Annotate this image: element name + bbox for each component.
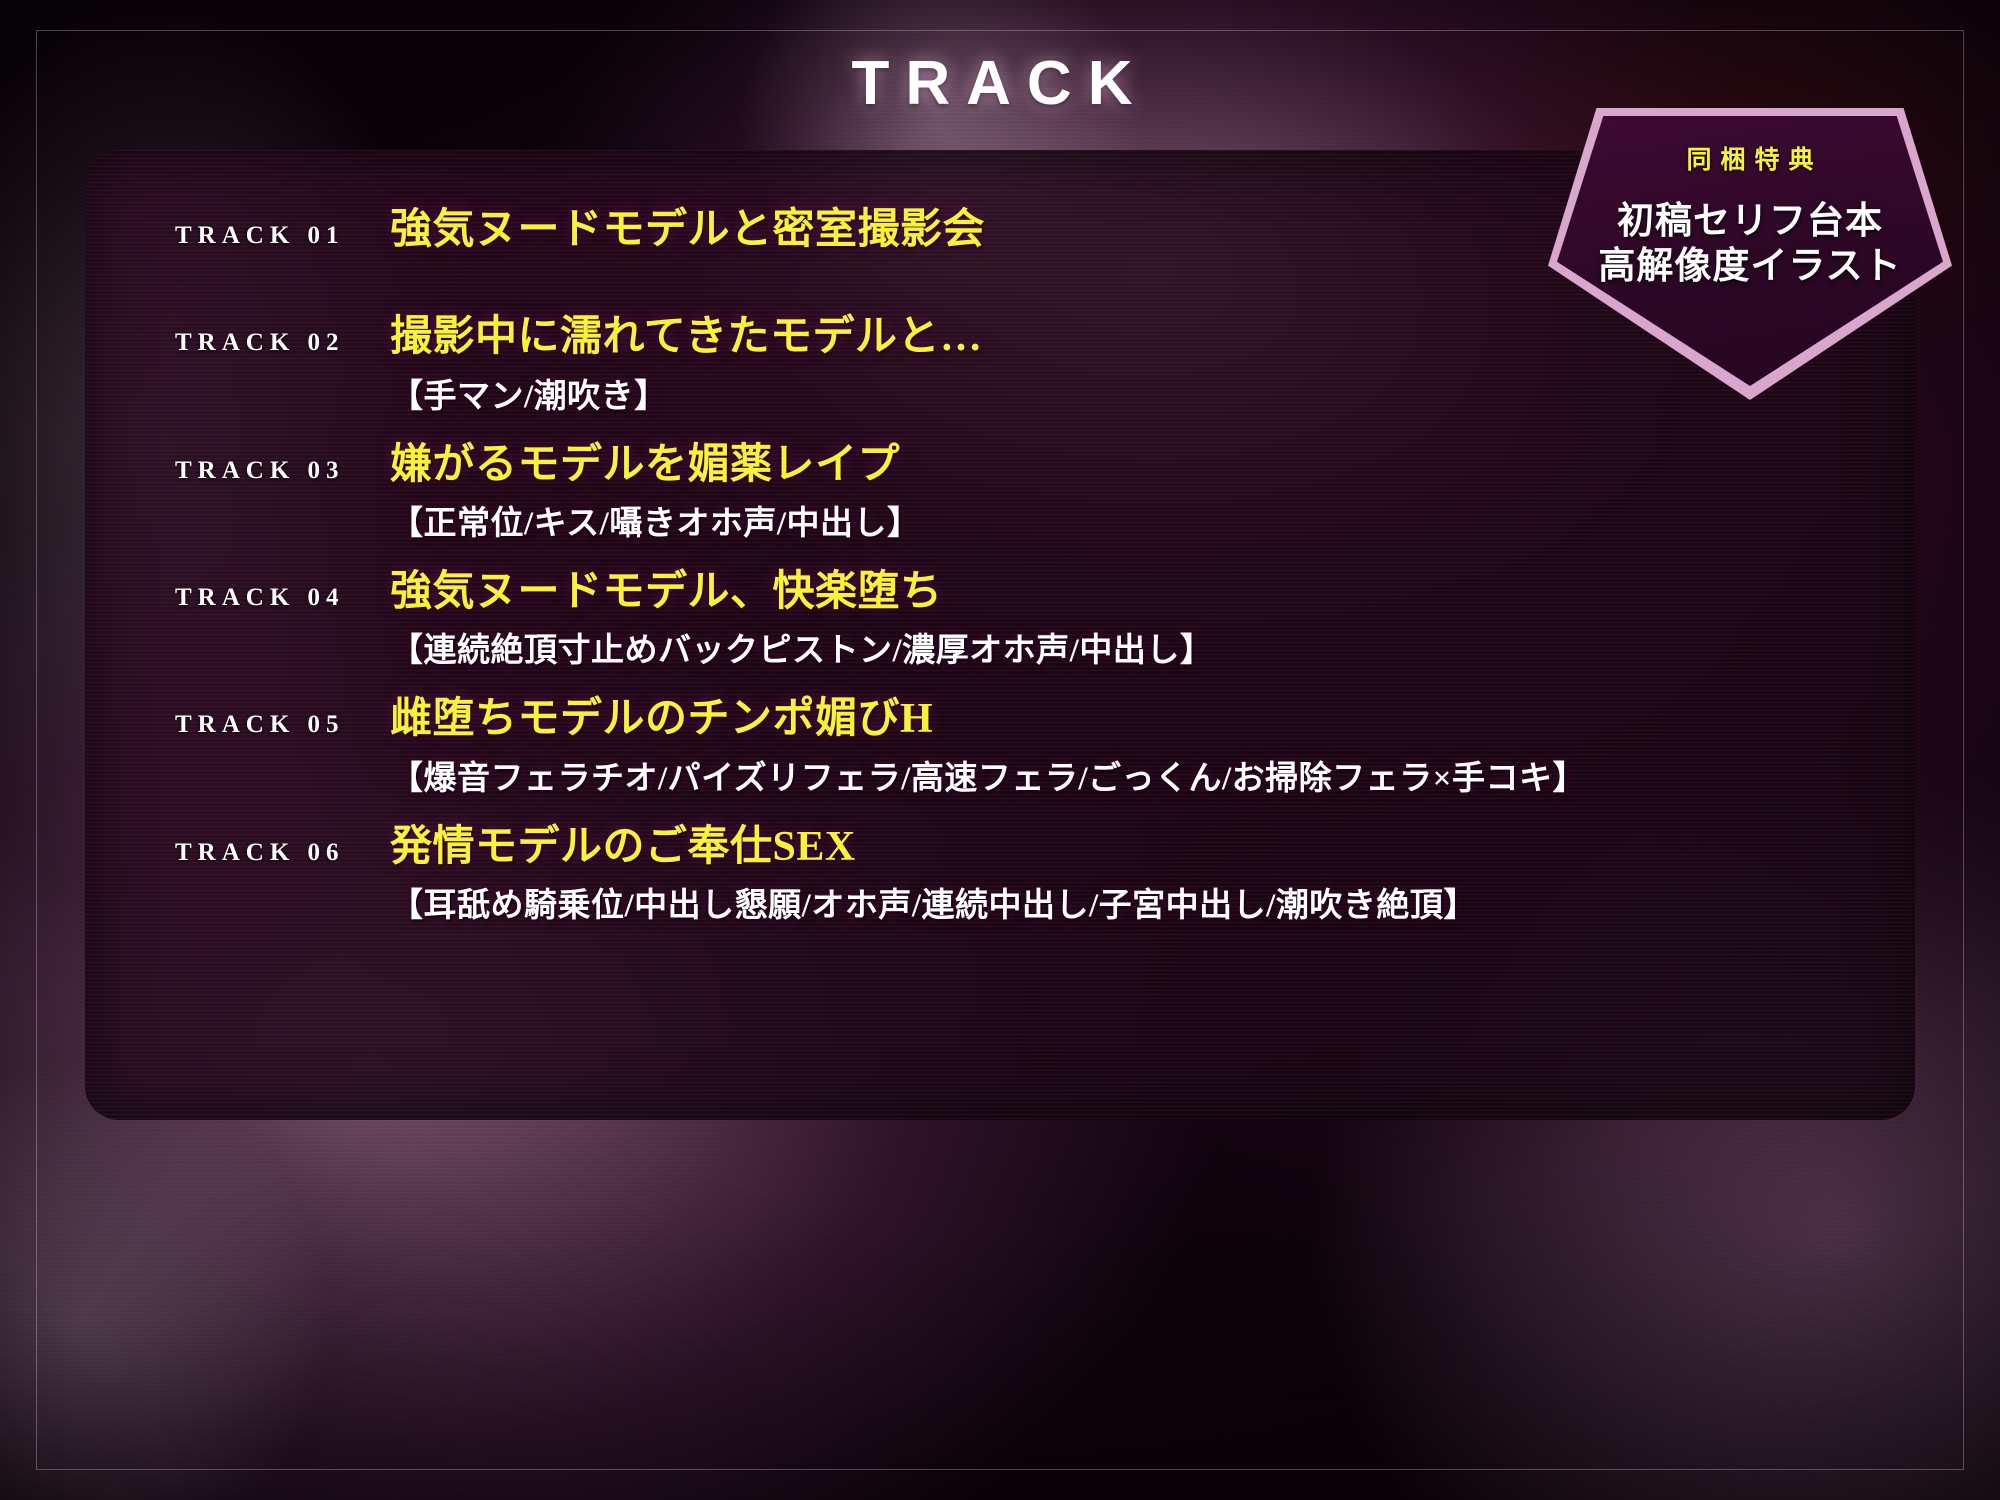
track-number-label: TRACK 06	[175, 839, 390, 867]
track-title: 嫌がるモデルを媚薬レイプ	[390, 443, 900, 488]
track-heading: TRACK 06 発情モデルのご奉仕SEX	[175, 825, 1915, 870]
track-row: TRACK 03 嫌がるモデルを媚薬レイプ 【正常位/キス/囁きオホ声/中出し】	[85, 443, 1915, 544]
track-number-label: TRACK 01	[175, 222, 390, 250]
track-row: TRACK 06 発情モデルのご奉仕SEX 【耳舐め騎乗位/中出し懇願/オホ声/…	[85, 825, 1915, 926]
track-title: 発情モデルのご奉仕SEX	[390, 825, 856, 870]
track-title: 撮影中に濡れてきたモデルと…	[390, 315, 982, 360]
track-subtitle: 【耳舐め騎乗位/中出し懇願/オホ声/連続中出し/子宮中出し/潮吹き絶頂】	[390, 878, 1915, 926]
track-list-page: TRACK TRACK 01 強気ヌードモデルと密室撮影会 TRACK 02 撮…	[0, 0, 2000, 1500]
track-number-label: TRACK 04	[175, 584, 390, 612]
track-number-label: TRACK 02	[175, 329, 390, 357]
bonus-badge-line-2: 高解像度イラスト	[1598, 243, 1901, 288]
track-subtitle: 【爆音フェラチオ/パイズリフェラ/高速フェラ/ごっくん/お掃除フェラ×手コキ】	[390, 751, 1915, 799]
track-number-label: TRACK 05	[175, 711, 390, 739]
track-title: 強気ヌードモデル、快楽堕ち	[390, 570, 943, 615]
bonus-badge-kicker: 同梱特典	[1677, 140, 1822, 176]
track-title: 雌堕ちモデルのチンポ媚びH	[390, 697, 933, 742]
track-number-label: TRACK 03	[175, 457, 390, 485]
bonus-badge-line-1: 初稿セリフ台本	[1617, 198, 1883, 243]
track-row: TRACK 05 雌堕ちモデルのチンポ媚びH 【爆音フェラチオ/パイズリフェラ/…	[85, 697, 1915, 798]
track-heading: TRACK 03 嫌がるモデルを媚薬レイプ	[175, 443, 1915, 488]
track-title: 強気ヌードモデルと密室撮影会	[390, 208, 985, 253]
track-subtitle: 【連続絶頂寸止めバックピストン/濃厚オホ声/中出し】	[390, 623, 1915, 671]
bonus-badge-content: 同梱特典 初稿セリフ台本 高解像度イラスト	[1548, 108, 1952, 400]
track-row: TRACK 04 強気ヌードモデル、快楽堕ち 【連続絶頂寸止めバックピストン/濃…	[85, 570, 1915, 671]
bonus-badge: 同梱特典 初稿セリフ台本 高解像度イラスト	[1548, 108, 1952, 400]
track-heading: TRACK 05 雌堕ちモデルのチンポ媚びH	[175, 697, 1915, 742]
track-subtitle: 【正常位/キス/囁きオホ声/中出し】	[390, 496, 1915, 544]
track-heading: TRACK 04 強気ヌードモデル、快楽堕ち	[175, 570, 1915, 615]
